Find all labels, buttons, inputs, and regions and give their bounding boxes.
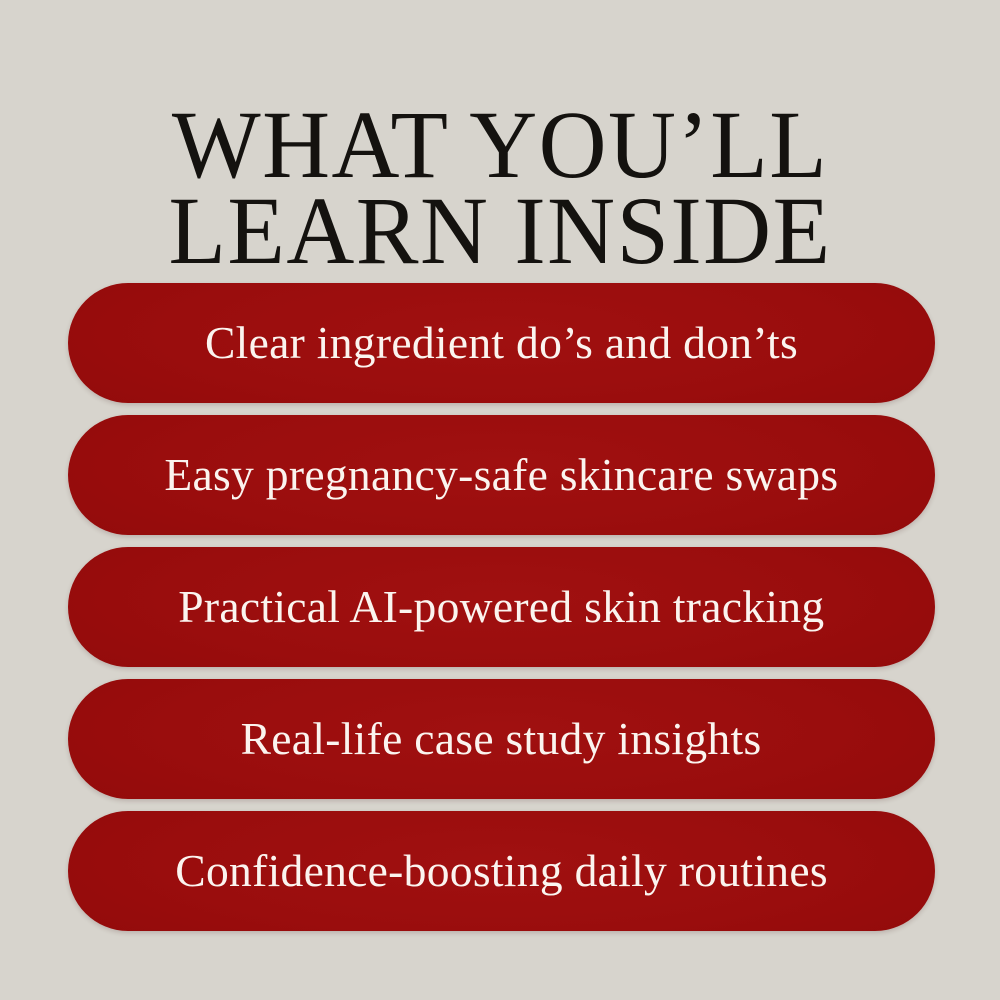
page-title: WHAT YOU’LL LEARN INSIDE xyxy=(10,102,990,274)
list-item[interactable]: Clear ingredient do’s and don’ts xyxy=(68,283,935,403)
list-item-label: Easy pregnancy-safe skincare swaps xyxy=(165,452,839,498)
list-item[interactable]: Confidence-boosting daily routines xyxy=(68,811,935,931)
list-item-label: Clear ingredient do’s and don’ts xyxy=(205,320,798,366)
list-item[interactable]: Easy pregnancy-safe skincare swaps xyxy=(68,415,935,535)
list-item[interactable]: Real-life case study insights xyxy=(68,679,935,799)
list-item-label: Confidence-boosting daily routines xyxy=(175,848,828,894)
list-item-label: Real-life case study insights xyxy=(241,716,762,762)
poster-canvas: WHAT YOU’LL LEARN INSIDE Clear ingredien… xyxy=(0,0,1000,1000)
benefits-list: Clear ingredient do’s and don’ts Easy pr… xyxy=(68,283,935,931)
list-item[interactable]: Practical AI-powered skin tracking xyxy=(68,547,935,667)
list-item-label: Practical AI-powered skin tracking xyxy=(178,584,824,630)
